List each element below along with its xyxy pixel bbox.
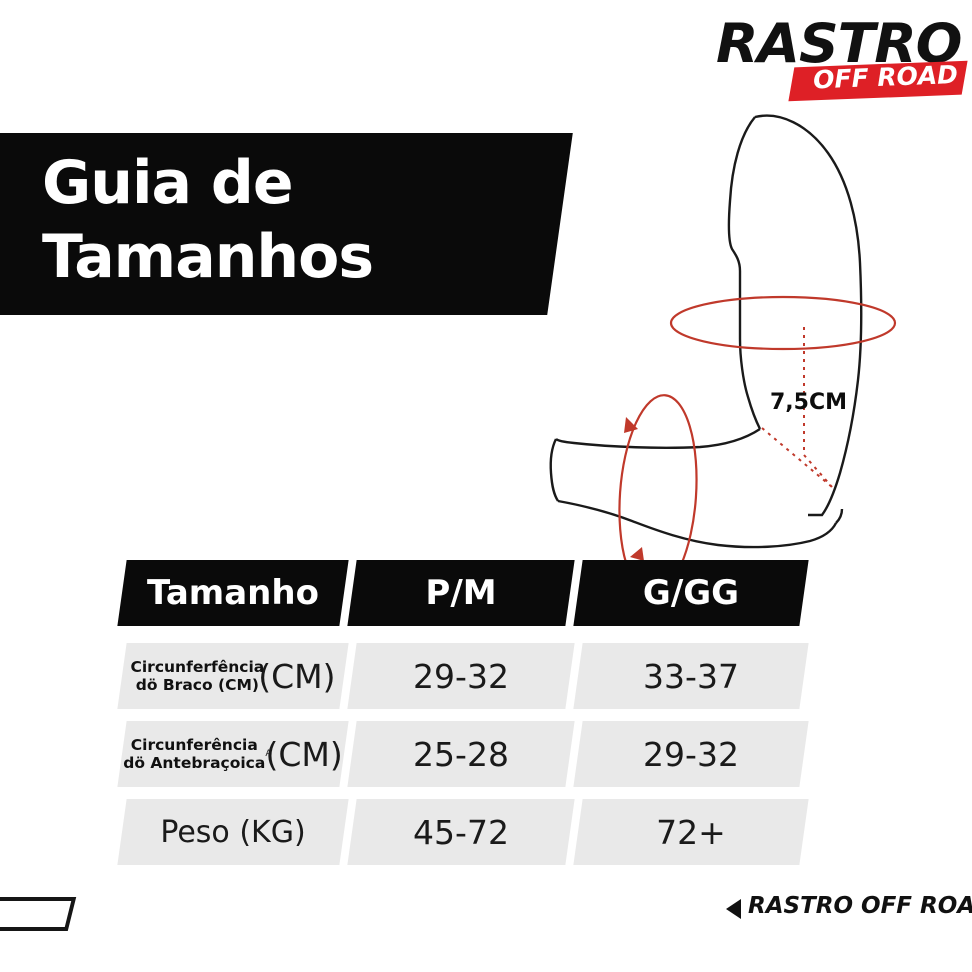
forearm-label-stack: Circunferência dö AntebraçoicaA (CM) bbox=[122, 721, 344, 787]
value-cell-forearm-ggg: 29-32 bbox=[573, 721, 808, 787]
bicep-value-ggg: 33-37 bbox=[578, 643, 804, 709]
value-cell-bicep-pm: 29-32 bbox=[347, 643, 574, 709]
brand-logo: RASTRO OFF ROAD bbox=[700, 14, 962, 106]
value-cell-forearm-pm: 25-28 bbox=[347, 721, 574, 787]
size-table: Tamanho P/M G/GG Circunferfência dö Brac… bbox=[0, 560, 972, 880]
forearm-bottom-outline bbox=[558, 501, 836, 547]
header-cell-tamanho: Tamanho bbox=[117, 560, 348, 626]
table-row: Peso (KG) 45-72 72+ bbox=[0, 799, 972, 873]
brand-tagline: OFF ROAD bbox=[800, 58, 971, 97]
forearm-arrow-bottom bbox=[630, 547, 644, 561]
header-label-ggg: G/GG bbox=[578, 560, 804, 626]
elbow-outline bbox=[836, 509, 842, 523]
forearm-value-ggg: 29-32 bbox=[578, 721, 804, 787]
forearm-label-small: Circunferência dö Antebraçoica bbox=[123, 736, 265, 772]
header-label-pm: P/M bbox=[352, 560, 570, 626]
bicep-label-small: Circunferfência dö Braco (CM) bbox=[130, 658, 264, 694]
measure-diagonal-b bbox=[804, 455, 832, 487]
forearm-label-unit: (CM) bbox=[266, 735, 343, 774]
table-row: Circunferfência dö Braco (CM) (CM) 29-32… bbox=[0, 643, 972, 717]
weight-value-ggg: 72+ bbox=[578, 799, 804, 865]
bicep-label-stack: Circunferfência dö Braco (CM) (CM) bbox=[122, 643, 344, 709]
value-cell-weight-pm: 45-72 bbox=[347, 799, 574, 865]
header-cell-pm: P/M bbox=[347, 560, 574, 626]
header-label-tamanho: Tamanho bbox=[122, 560, 344, 626]
weight-value-pm: 45-72 bbox=[352, 799, 570, 865]
arm-measurement-diagram bbox=[540, 95, 972, 565]
weight-label: Peso (KG) bbox=[122, 799, 344, 865]
value-cell-weight-ggg: 72+ bbox=[573, 799, 808, 865]
row-label-cell-weight: Peso (KG) bbox=[117, 799, 348, 865]
footer-brand-mark: RASTRO OFF ROAD bbox=[748, 893, 972, 919]
forearm-value-pm: 25-28 bbox=[352, 721, 570, 787]
row-label-cell-bicep: Circunferfência dö Braco (CM) (CM) bbox=[117, 643, 348, 709]
upper-arm-outline bbox=[755, 116, 861, 515]
bicep-value-pm: 29-32 bbox=[352, 643, 570, 709]
measurement-label: 7,5CM bbox=[770, 390, 847, 415]
measure-diagonal-a bbox=[762, 428, 832, 487]
page-title: Guia de Tamanhos bbox=[42, 146, 542, 306]
left-triangle-icon bbox=[726, 899, 741, 919]
forearm-top-outline bbox=[556, 429, 760, 448]
inner-upper-arm-outline bbox=[729, 117, 760, 429]
bicep-label-unit: (CM) bbox=[258, 657, 335, 696]
table-row: Circunferência dö AntebraçoicaA (CM) 25-… bbox=[0, 721, 972, 795]
row-label-cell-forearm: Circunferência dö AntebraçoicaA (CM) bbox=[117, 721, 348, 787]
size-guide-page: RASTRO OFF ROAD Guia de Tamanhos 7,5CM T… bbox=[0, 0, 972, 972]
value-cell-bicep-ggg: 33-37 bbox=[573, 643, 808, 709]
footer-parallelogram-tag bbox=[0, 897, 76, 931]
header-cell-ggg: G/GG bbox=[573, 560, 808, 626]
table-header-row: Tamanho P/M G/GG bbox=[0, 560, 972, 634]
hand-outline bbox=[551, 439, 558, 501]
